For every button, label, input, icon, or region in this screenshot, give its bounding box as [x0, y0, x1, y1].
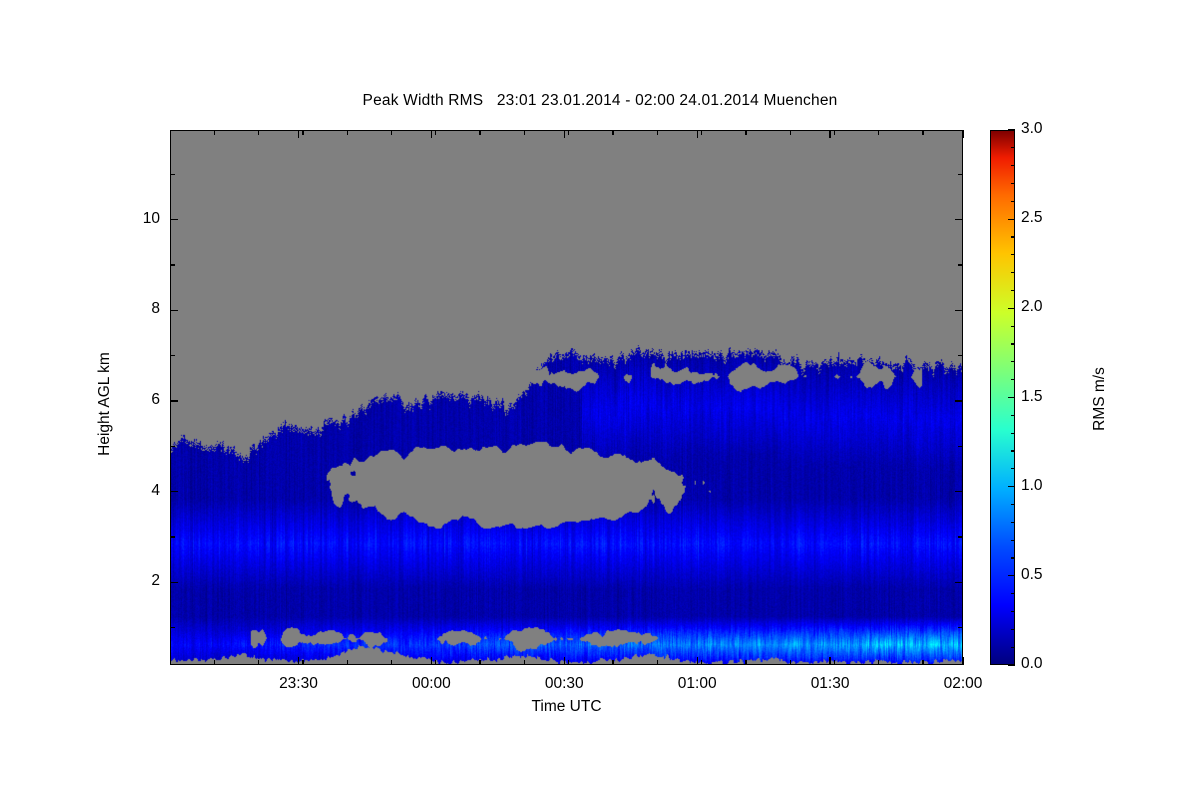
colorbar-tick-minor	[1011, 379, 1015, 380]
figure-canvas: Peak Width RMS 23:01 23.01.2014 - 02:00 …	[0, 0, 1200, 800]
x-tick-major-top	[962, 130, 963, 138]
y-tick-major	[170, 400, 178, 401]
y-tick-label: 2	[100, 572, 160, 590]
x-axis-label: Time UTC	[170, 698, 963, 716]
x-tick-minor-top	[347, 130, 348, 135]
x-tick-label: 00:30	[519, 675, 609, 693]
colorbar-tick-minor	[1011, 557, 1015, 558]
colorbar-tick-label: 1.5	[1021, 388, 1081, 406]
colorbar-tick-label: 3.0	[1021, 120, 1081, 138]
x-tick-minor	[258, 660, 259, 665]
colorbar-tick-minor	[1011, 504, 1015, 505]
colorbar-tick-minor	[1011, 433, 1015, 434]
colorbar-tick-minor	[1011, 593, 1015, 594]
colorbar-tick-minor	[1011, 272, 1015, 273]
x-tick-minor	[701, 660, 702, 665]
y-tick-minor	[170, 536, 175, 537]
x-tick-major	[697, 657, 698, 665]
colorbar-label: RMS m/s	[1091, 299, 1109, 499]
x-tick-minor-top	[302, 130, 303, 135]
colorbar-tick-label: 2.0	[1021, 298, 1081, 316]
y-axis-label: Height AGL km	[96, 294, 114, 514]
colorbar-tick-minor	[1011, 147, 1015, 148]
x-tick-minor	[790, 660, 791, 665]
x-tick-minor	[657, 660, 658, 665]
x-tick-minor	[612, 660, 613, 665]
colorbar-tick-major	[1008, 219, 1015, 220]
y-tick-minor	[170, 355, 175, 356]
x-tick-minor-top	[391, 130, 392, 135]
colorbar-tick-minor	[1011, 361, 1015, 362]
x-tick-minor	[347, 660, 348, 665]
x-tick-minor-top	[612, 130, 613, 135]
colorbar-tick-major	[1008, 308, 1015, 309]
page-title: Peak Width RMS 23:01 23.01.2014 - 02:00 …	[0, 92, 1200, 110]
colorbar-tick-minor	[1011, 236, 1015, 237]
x-tick-minor	[878, 660, 879, 665]
colorbar-tick-minor	[1011, 165, 1015, 166]
x-tick-minor	[391, 660, 392, 665]
x-tick-minor-top	[657, 130, 658, 135]
x-tick-minor-top	[878, 130, 879, 135]
x-tick-minor-top	[790, 130, 791, 135]
x-tick-major-top	[431, 130, 432, 138]
colorbar-tick-major	[1008, 129, 1015, 130]
y-tick-minor	[170, 627, 175, 628]
colorbar-tick-minor	[1011, 468, 1015, 469]
x-tick-major	[829, 657, 830, 665]
x-tick-minor	[302, 660, 303, 665]
x-tick-minor	[479, 660, 480, 665]
x-tick-major	[564, 657, 565, 665]
x-tick-minor-top	[479, 130, 480, 135]
y-tick-minor	[170, 446, 175, 447]
x-tick-major-top	[697, 130, 698, 138]
colorbar-tick-minor	[1011, 540, 1015, 541]
x-tick-minor-top	[922, 130, 923, 135]
y-tick-minor-right	[958, 627, 963, 628]
x-tick-label: 00:00	[386, 675, 476, 693]
x-tick-minor	[435, 660, 436, 665]
y-tick-major	[170, 582, 178, 583]
x-tick-minor-top	[214, 130, 215, 135]
heatmap-plot-area	[170, 130, 963, 665]
colorbar-tick-minor	[1011, 290, 1015, 291]
y-tick-major-right	[955, 219, 963, 220]
y-tick-major-right	[955, 491, 963, 492]
y-tick-major	[170, 219, 178, 220]
x-tick-label: 23:30	[253, 675, 343, 693]
x-tick-minor	[524, 660, 525, 665]
colorbar-tick-label: 2.5	[1021, 209, 1081, 227]
colorbar-tick-minor	[1011, 611, 1015, 612]
x-tick-minor	[834, 660, 835, 665]
x-tick-minor	[568, 660, 569, 665]
x-tick-major	[962, 657, 963, 665]
colorbar-tick-minor	[1011, 183, 1015, 184]
colorbar-tick-major	[1008, 397, 1015, 398]
colorbar-tick-major	[1008, 486, 1015, 487]
x-tick-minor-top	[435, 130, 436, 135]
x-tick-minor-top	[258, 130, 259, 135]
colorbar-tick-minor	[1011, 522, 1015, 523]
x-tick-minor	[214, 660, 215, 665]
colorbar-tick-minor	[1011, 343, 1015, 344]
colorbar-tick-label: 1.0	[1021, 477, 1081, 495]
x-tick-minor-top	[524, 130, 525, 135]
y-tick-label: 10	[100, 210, 160, 228]
y-tick-major	[170, 491, 178, 492]
x-tick-minor	[922, 660, 923, 665]
x-tick-minor	[745, 660, 746, 665]
y-tick-minor	[170, 174, 175, 175]
x-tick-minor-top	[834, 130, 835, 135]
colorbar-tick-minor	[1011, 647, 1015, 648]
y-tick-minor-right	[958, 536, 963, 537]
colorbar-tick-minor	[1011, 254, 1015, 255]
y-tick-minor-right	[958, 264, 963, 265]
colorbar-tick-label: 0.0	[1021, 655, 1081, 673]
y-tick-major	[170, 310, 178, 311]
x-tick-label: 01:30	[785, 675, 875, 693]
colorbar-tick-label: 0.5	[1021, 566, 1081, 584]
x-tick-major-top	[564, 130, 565, 138]
x-tick-minor-top	[745, 130, 746, 135]
x-tick-minor-top	[701, 130, 702, 135]
colorbar-tick-minor	[1011, 450, 1015, 451]
x-tick-major	[298, 657, 299, 665]
x-tick-label: 01:00	[652, 675, 742, 693]
y-tick-major-right	[955, 310, 963, 311]
x-tick-major-top	[829, 130, 830, 138]
x-tick-minor-top	[568, 130, 569, 135]
y-tick-minor-right	[958, 446, 963, 447]
x-tick-major	[431, 657, 432, 665]
x-tick-major-top	[298, 130, 299, 138]
colorbar-tick-minor	[1011, 326, 1015, 327]
y-tick-major-right	[955, 400, 963, 401]
colorbar-tick-major	[1008, 664, 1015, 665]
y-tick-minor-right	[958, 174, 963, 175]
x-tick-label: 02:00	[918, 675, 1008, 693]
colorbar-tick-major	[1008, 575, 1015, 576]
y-tick-minor	[170, 264, 175, 265]
colorbar-tick-minor	[1011, 415, 1015, 416]
y-tick-major-right	[955, 582, 963, 583]
y-tick-minor-right	[958, 355, 963, 356]
colorbar-tick-minor	[1011, 201, 1015, 202]
colorbar-tick-minor	[1011, 629, 1015, 630]
heatmap-data-layer	[171, 131, 962, 664]
